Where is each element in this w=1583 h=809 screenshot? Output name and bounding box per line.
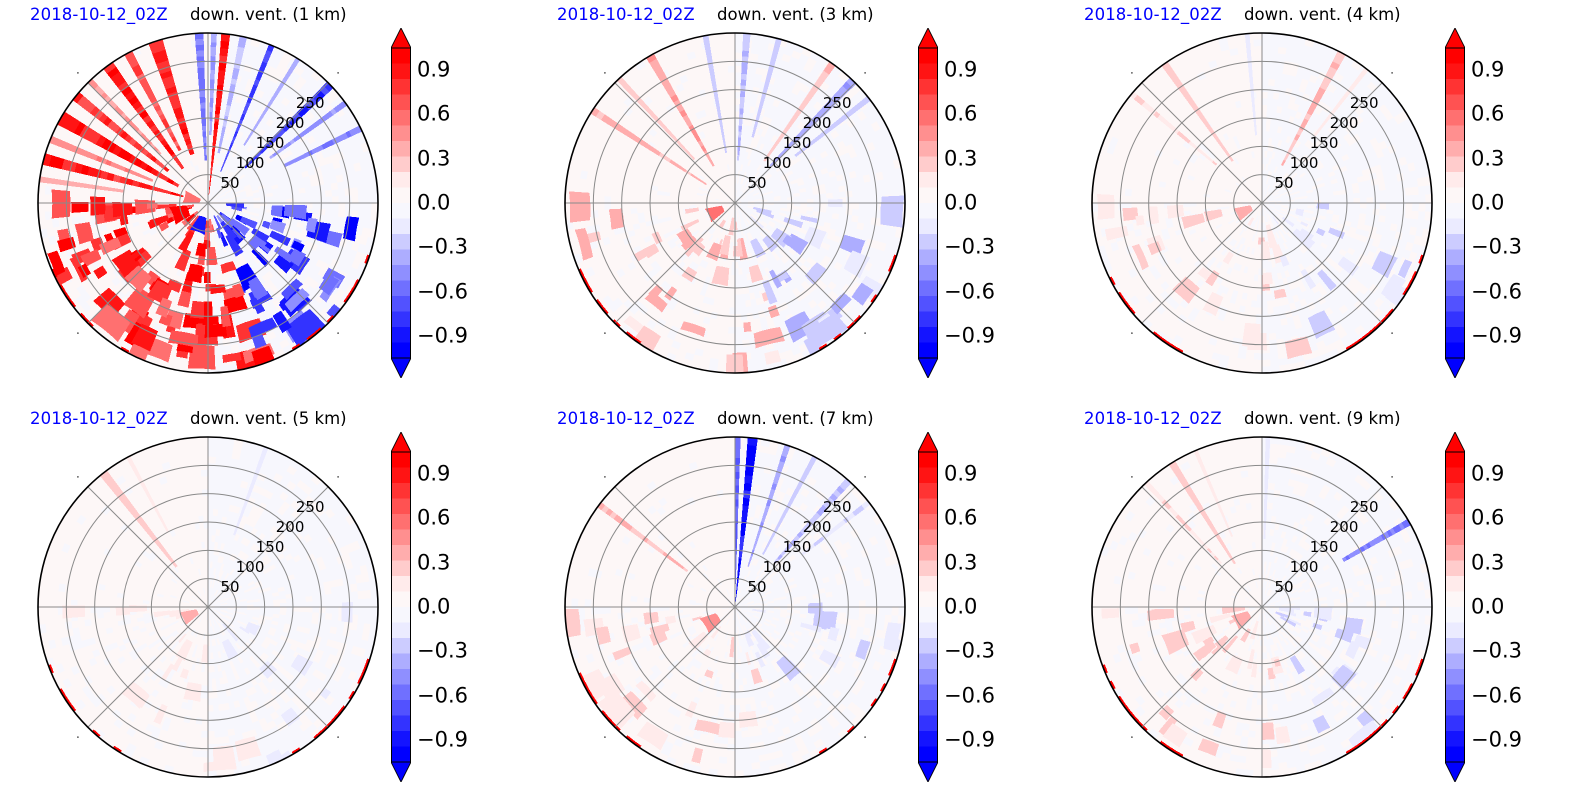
svg-text:100: 100 (236, 154, 265, 172)
svg-text:250: 250 (296, 498, 325, 516)
svg-text:100: 100 (236, 558, 265, 576)
colorbar (1445, 432, 1465, 782)
colorbar-tick-labels: 0.90.60.30.0−0.3−0.6−0.9 (1471, 432, 1551, 782)
svg-text:200: 200 (803, 518, 832, 536)
colorbar-tick-label: 0.6 (944, 508, 977, 529)
panel-variable-label: down. vent. (4 km) (1244, 5, 1401, 24)
colorbar-tick-label: −0.9 (1471, 325, 1522, 346)
colorbar-tick-label: −0.3 (944, 237, 995, 258)
colorbar (391, 432, 411, 782)
colorbar-tick-label: 0.9 (944, 60, 977, 81)
panel-date-label: 2018-10-12_02Z (30, 409, 168, 428)
colorbar-tick-label: 0.3 (944, 552, 977, 573)
svg-text:200: 200 (1330, 114, 1359, 132)
polar-axes[interactable]: 50100150200250 (37, 32, 379, 374)
panel-9km: 2018-10-12_02Zdown. vent. (9 km)50100150… (1054, 404, 1581, 808)
svg-text:50: 50 (1274, 578, 1293, 596)
colorbar-tick-label: 0.9 (1471, 60, 1504, 81)
panel-title: 2018-10-12_02Zdown. vent. (1 km) (0, 5, 440, 29)
panel-title: 2018-10-12_02Zdown. vent. (7 km) (527, 409, 967, 433)
panel-7km: 2018-10-12_02Zdown. vent. (7 km)50100150… (527, 404, 1054, 808)
svg-text:100: 100 (763, 154, 792, 172)
panel-date-label: 2018-10-12_02Z (557, 409, 695, 428)
colorbar-tick-label: 0.0 (417, 193, 450, 214)
svg-text:100: 100 (763, 558, 792, 576)
panel-5km: 2018-10-12_02Zdown. vent. (5 km)50100150… (0, 404, 527, 808)
colorbar-tick-labels: 0.90.60.30.0−0.3−0.6−0.9 (417, 432, 497, 782)
svg-text:150: 150 (783, 538, 812, 556)
polar-axes[interactable]: 50100150200250 (564, 436, 906, 778)
panel-4km: 2018-10-12_02Zdown. vent. (4 km)50100150… (1054, 0, 1581, 404)
svg-text:250: 250 (823, 94, 852, 112)
panel-date-label: 2018-10-12_02Z (30, 5, 168, 24)
polar-axes[interactable]: 50100150200250 (564, 32, 906, 374)
svg-text:250: 250 (1350, 94, 1379, 112)
panel-variable-label: down. vent. (5 km) (190, 409, 347, 428)
colorbar-tick-label: −0.6 (944, 281, 995, 302)
panel-variable-label: down. vent. (1 km) (190, 5, 347, 24)
figure-canvas: 2018-10-12_02Zdown. vent. (1 km)50100150… (0, 0, 1583, 809)
colorbar-tick-label: 0.3 (944, 148, 977, 169)
panel-date-label: 2018-10-12_02Z (1084, 409, 1222, 428)
svg-text:200: 200 (1330, 518, 1359, 536)
panel-variable-label: down. vent. (7 km) (717, 409, 874, 428)
svg-text:250: 250 (296, 94, 325, 112)
colorbar-tick-label: 0.0 (944, 193, 977, 214)
polar-axes[interactable]: 50100150200250 (1091, 32, 1433, 374)
svg-text:150: 150 (1310, 538, 1339, 556)
colorbar-tick-label: 0.6 (417, 104, 450, 125)
colorbar-tick-label: −0.3 (1471, 641, 1522, 662)
colorbar-tick-label: 0.0 (1471, 193, 1504, 214)
colorbar-tick-label: −0.9 (944, 729, 995, 750)
colorbar (918, 432, 938, 782)
colorbar (1445, 28, 1465, 378)
colorbar-tick-label: 0.6 (417, 508, 450, 529)
svg-text:250: 250 (1350, 498, 1379, 516)
colorbar-tick-label: 0.3 (417, 148, 450, 169)
colorbar-tick-labels: 0.90.60.30.0−0.3−0.6−0.9 (417, 28, 497, 378)
panel-date-label: 2018-10-12_02Z (1084, 5, 1222, 24)
panel-title: 2018-10-12_02Zdown. vent. (9 km) (1054, 409, 1494, 433)
colorbar-tick-labels: 0.90.60.30.0−0.3−0.6−0.9 (1471, 28, 1551, 378)
colorbar-tick-label: 0.9 (1471, 464, 1504, 485)
colorbar-tick-label: 0.9 (417, 60, 450, 81)
svg-text:50: 50 (220, 578, 239, 596)
svg-text:150: 150 (783, 134, 812, 152)
svg-text:150: 150 (256, 134, 285, 152)
svg-text:250: 250 (823, 498, 852, 516)
colorbar-tick-label: −0.3 (417, 237, 468, 258)
colorbar-tick-label: −0.3 (944, 641, 995, 662)
colorbar-tick-label: 0.6 (944, 104, 977, 125)
svg-text:200: 200 (803, 114, 832, 132)
panel-title: 2018-10-12_02Zdown. vent. (5 km) (0, 409, 440, 433)
colorbar-tick-label: −0.9 (1471, 729, 1522, 750)
colorbar-tick-label: −0.9 (417, 325, 468, 346)
svg-text:50: 50 (1274, 174, 1293, 192)
colorbar-tick-label: −0.6 (1471, 281, 1522, 302)
svg-text:200: 200 (276, 518, 305, 536)
colorbar-tick-label: −0.6 (417, 281, 468, 302)
panel-title: 2018-10-12_02Zdown. vent. (3 km) (527, 5, 967, 29)
colorbar-tick-label: −0.9 (944, 325, 995, 346)
panel-date-label: 2018-10-12_02Z (557, 5, 695, 24)
colorbar-tick-label: 0.9 (417, 464, 450, 485)
colorbar-tick-label: 0.0 (944, 597, 977, 618)
colorbar-tick-label: −0.6 (417, 685, 468, 706)
colorbar-tick-label: 0.6 (1471, 104, 1504, 125)
colorbar-tick-labels: 0.90.60.30.0−0.3−0.6−0.9 (944, 432, 1024, 782)
svg-text:50: 50 (747, 174, 766, 192)
svg-text:150: 150 (256, 538, 285, 556)
colorbar-tick-label: −0.6 (1471, 685, 1522, 706)
colorbar (391, 28, 411, 378)
svg-text:200: 200 (276, 114, 305, 132)
panel-title: 2018-10-12_02Zdown. vent. (4 km) (1054, 5, 1494, 29)
panel-1km: 2018-10-12_02Zdown. vent. (1 km)50100150… (0, 0, 527, 404)
panel-variable-label: down. vent. (3 km) (717, 5, 874, 24)
colorbar-tick-label: 0.3 (1471, 552, 1504, 573)
colorbar-tick-label: 0.6 (1471, 508, 1504, 529)
colorbar-tick-labels: 0.90.60.30.0−0.3−0.6−0.9 (944, 28, 1024, 378)
colorbar-tick-label: 0.0 (1471, 597, 1504, 618)
svg-text:50: 50 (747, 578, 766, 596)
svg-text:150: 150 (1310, 134, 1339, 152)
colorbar-tick-label: 0.3 (417, 552, 450, 573)
svg-text:50: 50 (220, 174, 239, 192)
svg-text:100: 100 (1290, 154, 1319, 172)
panel-3km: 2018-10-12_02Zdown. vent. (3 km)50100150… (527, 0, 1054, 404)
colorbar-tick-label: −0.9 (417, 729, 468, 750)
colorbar-tick-label: 0.9 (944, 464, 977, 485)
polar-axes[interactable]: 50100150200250 (1091, 436, 1433, 778)
colorbar-tick-label: −0.3 (1471, 237, 1522, 258)
colorbar-tick-label: −0.6 (944, 685, 995, 706)
colorbar-tick-label: 0.3 (1471, 148, 1504, 169)
svg-text:100: 100 (1290, 558, 1319, 576)
colorbar-tick-label: −0.3 (417, 641, 468, 662)
colorbar-tick-label: 0.0 (417, 597, 450, 618)
panel-variable-label: down. vent. (9 km) (1244, 409, 1401, 428)
colorbar (918, 28, 938, 378)
polar-axes[interactable]: 50100150200250 (37, 436, 379, 778)
